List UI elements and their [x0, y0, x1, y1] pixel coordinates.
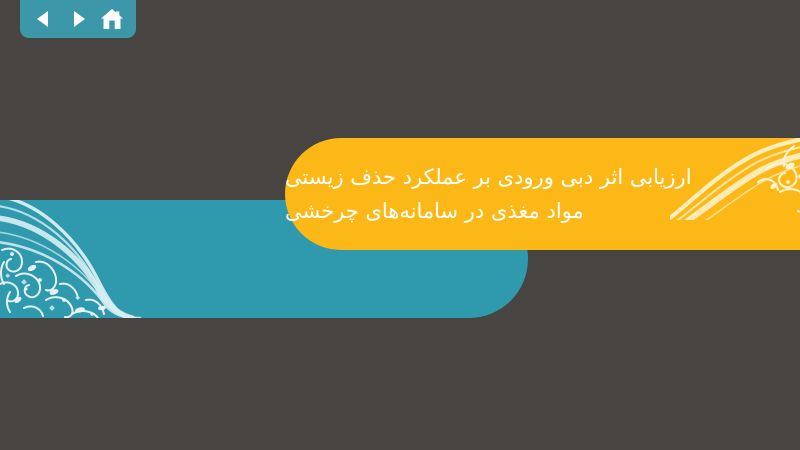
- navigation-bar: [20, 0, 136, 38]
- back-button[interactable]: [31, 6, 57, 32]
- home-button[interactable]: [99, 6, 125, 32]
- slide-canvas: ارزیابی اثر دبی ورودی بر عملکرد حذف زیست…: [0, 0, 800, 450]
- back-triangle-icon: [34, 9, 54, 29]
- persian-arabesque-ornament: [670, 138, 800, 220]
- home-icon: [100, 8, 124, 31]
- orange-banner: [285, 138, 800, 250]
- forward-button[interactable]: [65, 6, 91, 32]
- persian-arabesque-ornament: [0, 200, 148, 318]
- forward-triangle-icon: [68, 9, 88, 29]
